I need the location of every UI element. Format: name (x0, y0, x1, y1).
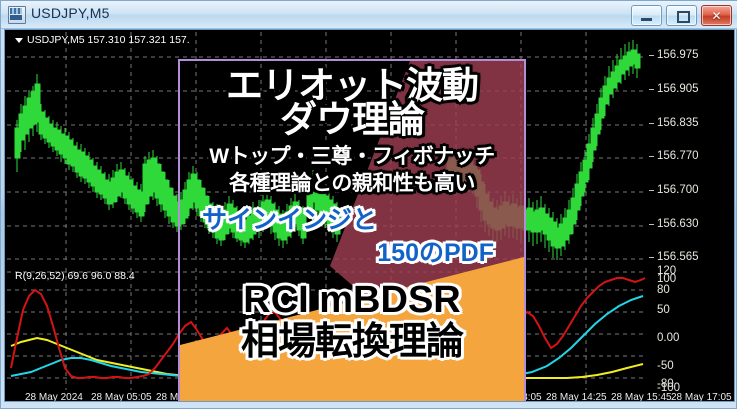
time-axis-label: 28 May 17:05 (671, 392, 732, 402)
price-axis-label: 156.565 (657, 251, 699, 263)
chart-client-area[interactable]: USDJPY,M5 157.310 157.321 157. R(9,26,52… (4, 29, 735, 402)
promo-overlay: エリオット波動 ダウ理論 Wトップ・三尊・フィボナッチ 各種理論との親和性も高い… (178, 59, 526, 402)
price-axis-label: 156.835 (657, 117, 699, 129)
overlay-text-block: エリオット波動 ダウ理論 Wトップ・三尊・フィボナッチ 各種理論との親和性も高い… (180, 61, 524, 402)
overlay-line-4: 各種理論との親和性も高い (180, 173, 524, 194)
price-axis-label: 156.770 (657, 150, 699, 162)
minimize-icon (641, 18, 652, 21)
indicator-axis-label: -50 (657, 360, 674, 372)
indicator-axis-label: 80 (657, 284, 670, 296)
overlay-line-8: 相場転換理論 (180, 323, 524, 361)
minimize-button[interactable] (631, 5, 662, 26)
overlay-line-2: ダウ理論 (180, 101, 524, 138)
chart-window-icon (8, 6, 26, 24)
price-pane-header: USDJPY,M5 157.310 157.321 157. (15, 34, 190, 46)
time-axis-label: 28 May 2024 (25, 392, 83, 402)
time-axis-label: 28 May 05:05 (91, 392, 152, 402)
close-button[interactable]: ✕ (701, 5, 732, 26)
title-bar: USDJPY,M5 ✕ (1, 1, 737, 29)
indicator-axis-label: 0.00 (657, 332, 679, 344)
price-axis-label: 156.975 (657, 49, 699, 61)
chart-canvas[interactable]: USDJPY,M5 157.310 157.321 157. R(9,26,52… (5, 30, 734, 401)
chevron-down-icon[interactable] (15, 38, 23, 43)
time-axis-label: 28 May 14:25 (546, 392, 607, 402)
maximize-icon (677, 11, 690, 23)
window-controls: ✕ (631, 5, 732, 26)
price-axis-label: 156.905 (657, 83, 699, 95)
time-axis-label: 28 May 15:45 (611, 392, 672, 402)
overlay-line-3: Wトップ・三尊・フィボナッチ (180, 146, 524, 167)
indicator-axis-label: 50 (657, 304, 670, 316)
maximize-button[interactable] (666, 5, 697, 26)
price-axis: 156.975 156.905 156.835 156.770 156.700 … (649, 30, 735, 392)
indicator-pane-header: R(9,26,52) 69.6 96.0 88.4 (15, 270, 135, 282)
overlay-line-5: サインインジと (180, 208, 524, 233)
overlay-line-7: RCI mBDSR (180, 281, 524, 319)
overlay-line-6: 150のPDF (180, 241, 524, 266)
close-icon: ✕ (711, 10, 721, 22)
window-title: USDJPY,M5 (31, 5, 110, 21)
application-window: USDJPY,M5 ✕ (0, 0, 737, 409)
price-axis-label: 156.630 (657, 218, 699, 230)
price-axis-label: 156.700 (657, 184, 699, 196)
